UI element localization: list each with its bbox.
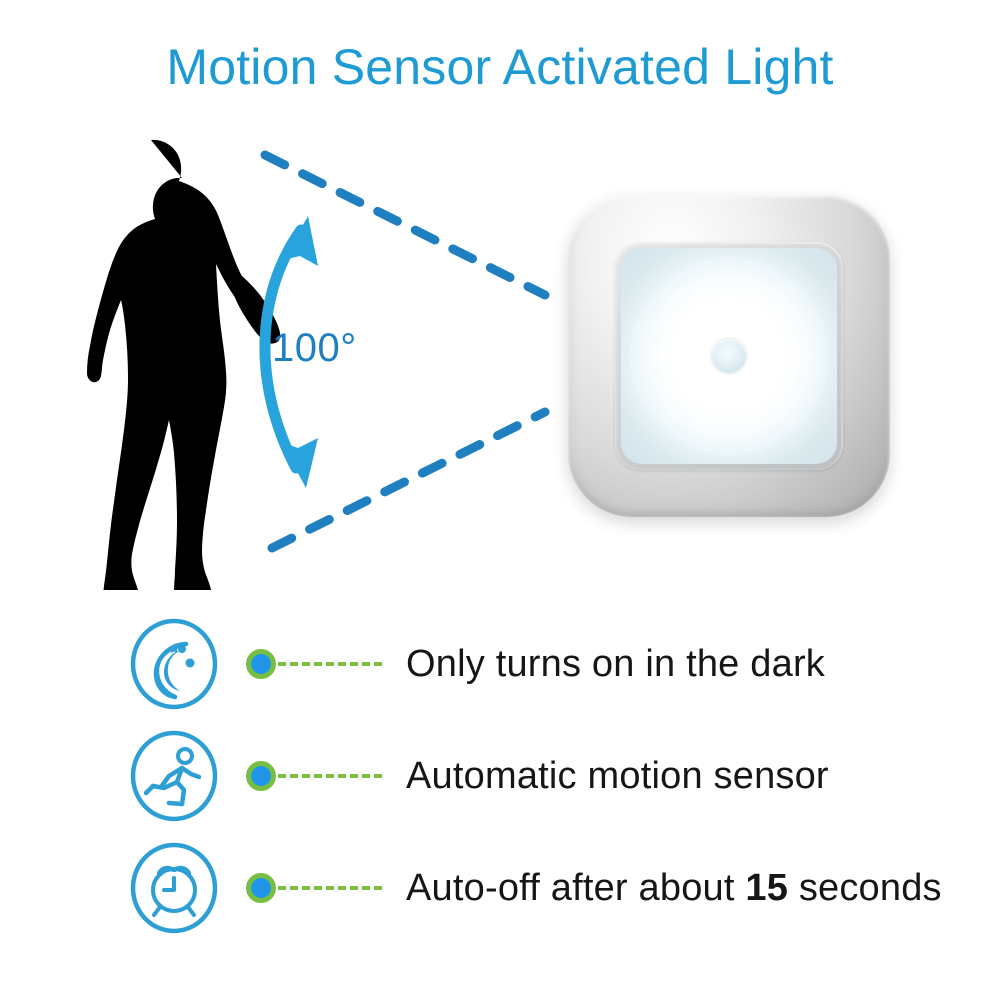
running-person-icon	[128, 730, 220, 822]
connector-dot-icon	[246, 873, 276, 903]
pir-sensor-dome	[712, 339, 746, 373]
alarm-clock-icon	[128, 842, 220, 934]
moon-stars-icon	[128, 618, 220, 710]
feature-label-bold: 15	[745, 867, 788, 909]
feature-label-text-after: seconds	[788, 867, 942, 909]
lower-dashed-detection-beam	[272, 412, 545, 548]
feature-row-motion: Automatic motion sensor	[0, 720, 1000, 832]
connector-1	[246, 647, 382, 681]
connector-2	[246, 759, 382, 793]
detection-diagram: 100°	[0, 120, 1000, 590]
walking-person-silhouette	[87, 140, 280, 590]
feature-label-autooff: Auto-off after about 15 seconds	[406, 867, 942, 910]
feature-label-text: Auto-off after about	[406, 867, 745, 909]
feature-label-motion: Automatic motion sensor	[406, 755, 829, 798]
feature-label-text: Automatic motion sensor	[406, 755, 829, 797]
connector-3	[246, 871, 382, 905]
feature-label-text: Only turns on in the dark	[406, 643, 825, 685]
page-title: Motion Sensor Activated Light	[0, 38, 1000, 96]
feature-row-dark: Only turns on in the dark	[0, 608, 1000, 720]
angle-label: 100°	[272, 326, 357, 371]
connector-dashed-line	[278, 886, 382, 890]
feature-label-dark: Only turns on in the dark	[406, 643, 825, 686]
connector-dot-icon	[246, 761, 276, 791]
connector-dashed-line	[278, 662, 382, 666]
feature-row-autooff: Auto-off after about 15 seconds	[0, 832, 1000, 944]
led-diffuser-panel	[621, 248, 837, 464]
infographic-page: Motion Sensor Activated Light	[0, 0, 1000, 1000]
motion-sensor-night-light	[568, 195, 890, 517]
connector-dot-icon	[246, 649, 276, 679]
feature-list: Only turns on in the dark	[0, 608, 1000, 944]
device-bezel-inner	[615, 242, 843, 470]
connector-dashed-line	[278, 774, 382, 778]
